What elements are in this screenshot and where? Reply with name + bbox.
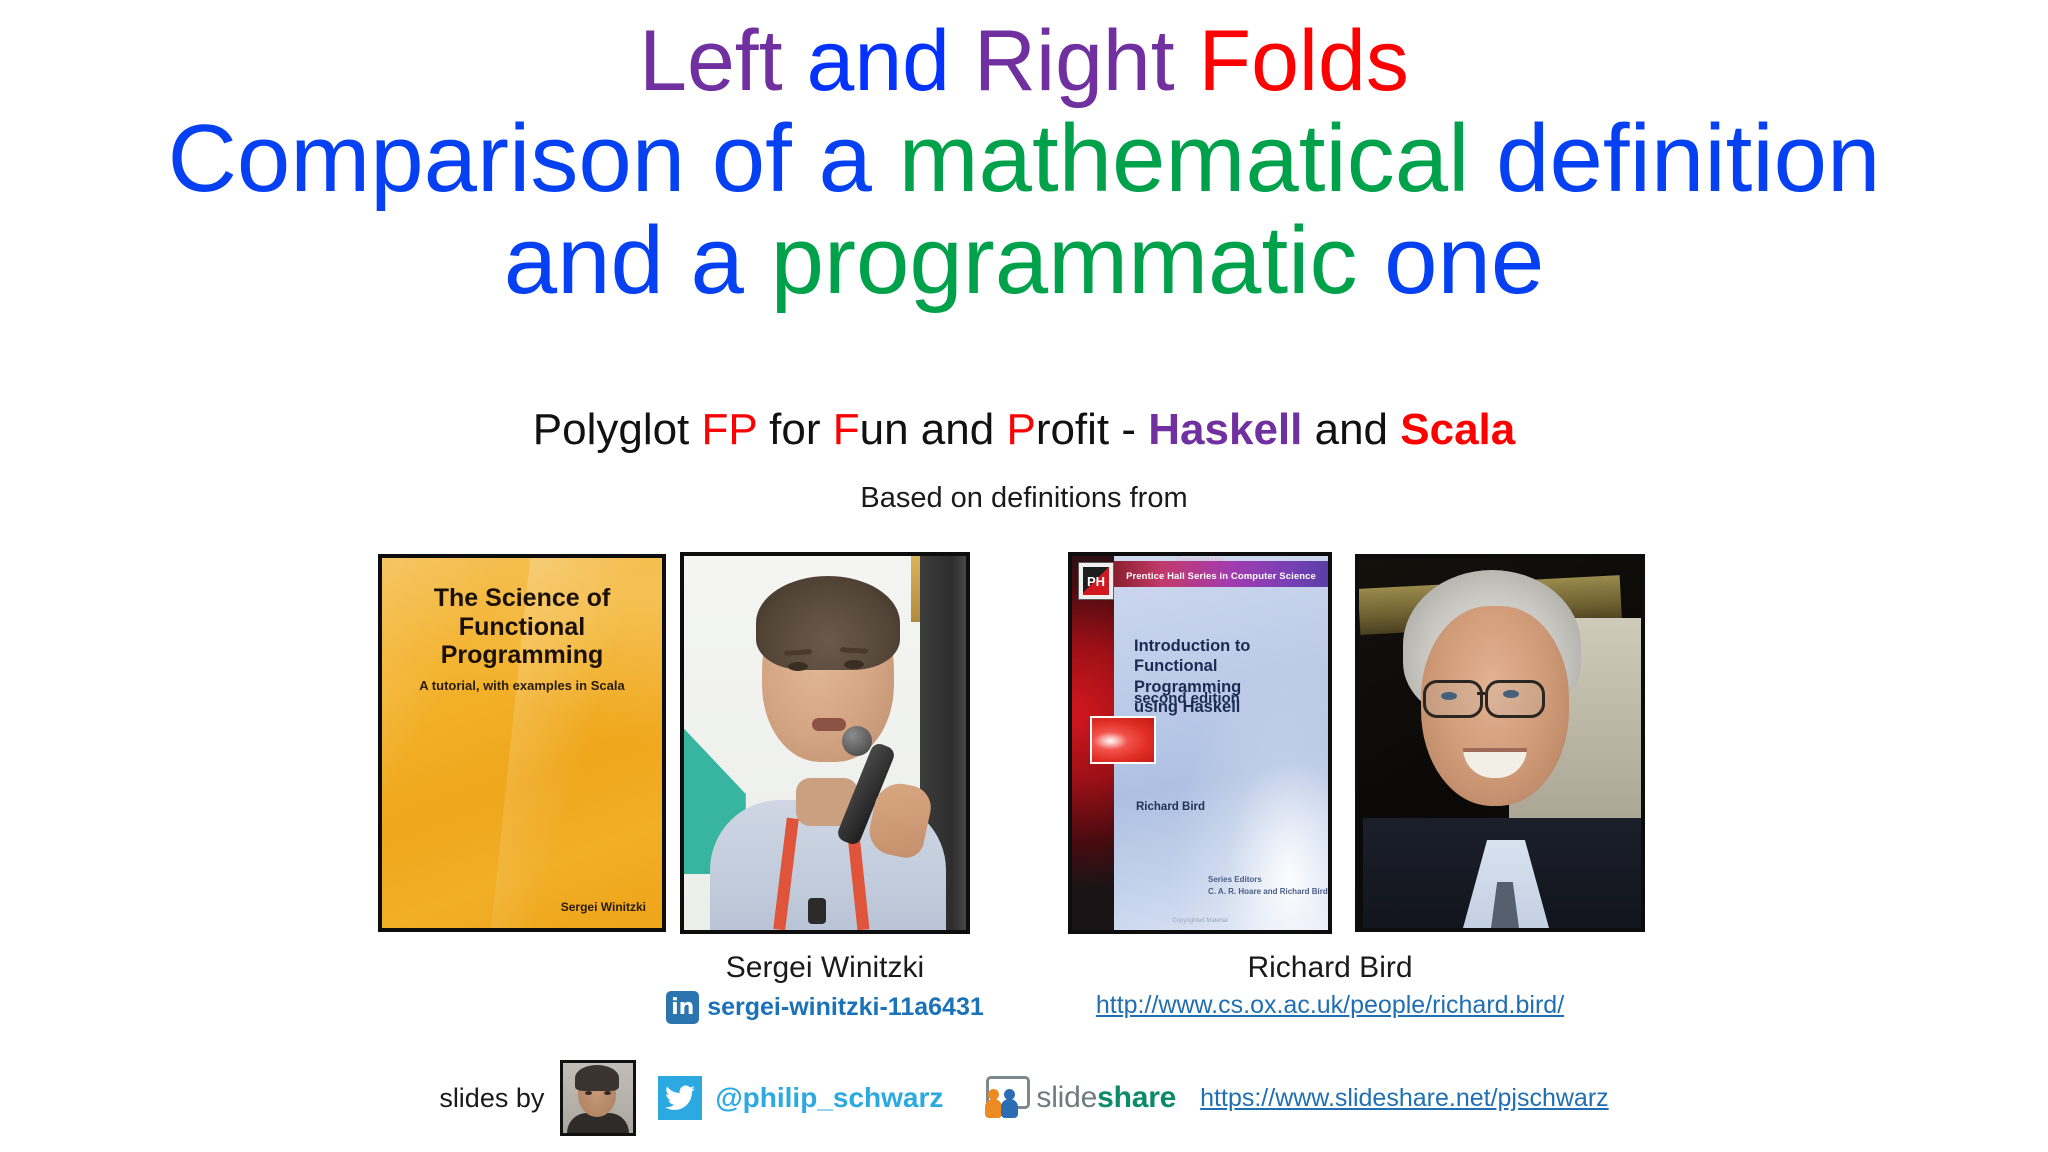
tagline: Polyglot FP for Fun and Profit - Haskell… [0,405,2048,455]
tagline-scala: Scala [1400,405,1515,454]
tagline-polyglot: Polyglot [533,405,702,454]
winitzki-hair [756,576,900,670]
twitter-handle-link[interactable]: @philip_schwarz [715,1082,943,1114]
twitter-icon[interactable] [658,1076,702,1120]
winitzki-badge [808,898,826,924]
title-line2-part-mathematical: mathematical [899,105,1470,212]
ifp-series-banner-text: Prentice Hall Series in Computer Science [1114,571,1328,582]
ifp-cover-background: Copyrighted Material Prentice Hall Serie… [1072,556,1328,930]
bird-eye-right [1503,690,1519,698]
title-word-left: Left [639,13,782,109]
caption-sub-winitzki: in sergei-winitzki-11a6431 [580,991,1070,1024]
tagline-and: and [1302,405,1400,454]
photo-richard-bird [1355,554,1645,932]
title-line-2: Comparison of a mathematical definition [0,110,2048,208]
winitzki-photo-canvas [684,556,966,930]
sfp-subtitle: A tutorial, with examples in Scala [382,678,662,693]
title-line-3: and a programmatic one [0,212,2048,310]
tagline-for: for [757,405,833,454]
sfp-title: The Science of Functional Programming [382,584,662,670]
ifp-author: Richard Bird [1136,801,1205,813]
slides-by-label: slides by [439,1083,544,1114]
title-line2-part-c: definition [1469,105,1880,212]
prentice-hall-logo-mark: PH [1083,567,1109,595]
title-line3-part-programmatic: programmatic [771,207,1358,314]
sfp-title-line-2: Functional [382,613,662,642]
ifp-copyright-bottom: Copyrighted Material [1072,918,1328,924]
book-cover-science-of-functional-programming: The Science of Functional Programming A … [378,554,666,932]
richard-bird-homepage-link[interactable]: http://www.cs.ox.ac.uk/people/richard.bi… [1096,991,1564,1020]
ifp-title-line-1: Introduction to [1134,636,1316,656]
sfp-title-line-3: Programming [382,641,662,670]
tagline-un-and: un and [860,405,1007,454]
winitzki-mouth [812,718,846,731]
slideshare-icon[interactable] [981,1076,1029,1120]
tagline-rofit: rofit - [1036,405,1148,454]
avatar [560,1060,636,1136]
caption-richard-bird: Richard Bird http://www.cs.ox.ac.uk/peop… [1060,950,1600,1020]
ifp-series-editors-label: Series Editors [1208,874,1328,886]
slideshare-wordmark-slide: slide [1036,1081,1097,1114]
title-word-folds: Folds [1175,13,1409,109]
ifp-series-editors: Series Editors C. A. R. Hoare and Richar… [1208,874,1328,898]
prentice-hall-logo-icon: PH [1078,562,1114,600]
ifp-series-editors-names: C. A. R. Hoare and Richard Bird [1208,886,1328,898]
caption-sub-bird: http://www.cs.ox.ac.uk/people/richard.bi… [1060,991,1600,1020]
title-line-1: Left and Right Folds [0,18,2048,106]
tagline-haskell: Haskell [1148,405,1302,454]
linkedin-handle-link[interactable]: sergei-winitzki-11a6431 [707,993,984,1022]
book-cover-introduction-to-functional-programming-using-haskell: Copyrighted Material Prentice Hall Serie… [1068,552,1332,934]
photo-sergei-winitzki [680,552,970,934]
slideshare-person-blue [1000,1089,1019,1119]
sfp-author: Sergei Winitzki [561,900,646,914]
caption-name-bird: Richard Bird [1060,950,1600,986]
title-line2-part-a: Comparison of a [168,105,899,212]
winitzki-microphone-head [842,726,872,756]
slideshare-profile-link[interactable]: https://www.slideshare.net/pjschwarz [1200,1084,1609,1113]
bird-photo-canvas [1359,558,1641,928]
slide-root: Left and Right Folds Comparison of a mat… [0,0,2048,1152]
title-block: Left and Right Folds Comparison of a mat… [0,18,2048,310]
bird-glasses-right-lens [1485,680,1545,718]
slideshare-person-blue-body [1001,1099,1018,1118]
bird-glasses-bridge [1477,692,1485,695]
tagline-f: F [833,405,860,454]
title-word-and: and [783,13,974,109]
avatar-hair [575,1065,619,1091]
caption-name-winitzki: Sergei Winitzki [580,950,1070,986]
ifp-edition: second edition [1134,690,1240,707]
winitzki-eye-right [844,660,864,669]
slideshare-wordmark-share: share [1097,1081,1176,1114]
title-line3-part-a: and a [504,207,771,314]
bird-eye-left [1441,692,1457,700]
winitzki-eye-left [788,662,808,671]
title-line3-part-c: one [1357,207,1544,314]
caption-sergei-winitzki: Sergei Winitzki in sergei-winitzki-11a64… [580,950,1070,1024]
sfp-title-line-1: The Science of [382,584,662,613]
ifp-series-banner: Prentice Hall Series in Computer Science [1114,561,1328,587]
linkedin-icon[interactable]: in [666,991,699,1024]
slideshare-wordmark: slideshare [1036,1081,1176,1115]
tagline-fp: FP [702,405,757,454]
based-on-label: Based on definitions from [0,482,2048,515]
title-word-right: Right [974,13,1175,109]
tagline-p: P [1006,405,1035,454]
winitzki-yellow-edge [911,556,920,622]
footer-credits: slides by @philip_schwarz [0,1060,2048,1136]
ifp-red-square-art [1090,716,1156,764]
